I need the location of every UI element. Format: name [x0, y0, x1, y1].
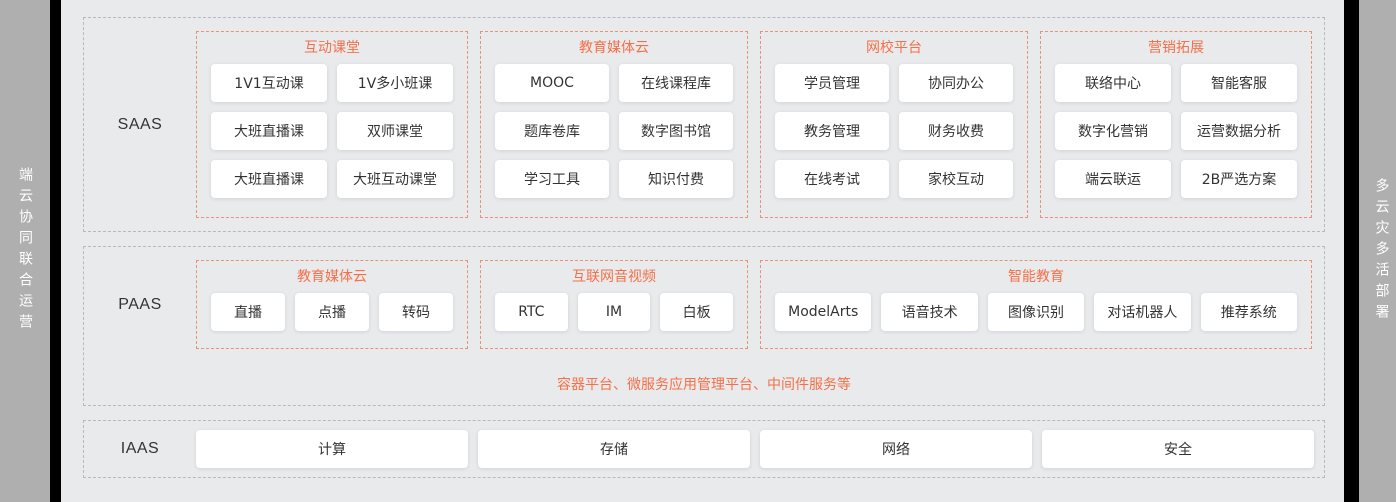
- service-card[interactable]: 白板: [660, 293, 733, 331]
- group-title: 互动课堂: [304, 41, 360, 55]
- layer-paas-label: PAAS: [84, 247, 196, 362]
- group-grid: MOOC 在线课程库 题库卷库 数字图书馆 学习工具 知识付费: [495, 64, 733, 198]
- service-card[interactable]: 推荐系统: [1201, 293, 1297, 331]
- group-internet-audio-video: 互联网音视频 RTC IM 白板: [480, 260, 748, 349]
- service-card[interactable]: 双师课堂: [337, 112, 453, 150]
- group-grid: 直播 点播 转码: [211, 293, 453, 331]
- layer-saas: SAAS 互动课堂 1V1互动课 1V多小班课 大班直播课 双师课堂 大班直播课…: [83, 17, 1325, 232]
- layer-iaas-body: 计算 存储 网络 安全: [196, 421, 1324, 477]
- service-card[interactable]: 联络中心: [1055, 64, 1171, 102]
- left-rail-divider: [50, 0, 61, 502]
- layer-paas-body: 教育媒体云 直播 点播 转码 互联网音视频 RTC IM 白板: [196, 247, 1324, 362]
- layer-saas-body: 互动课堂 1V1互动课 1V多小班课 大班直播课 双师课堂 大班直播课 大班互动…: [196, 18, 1324, 231]
- layer-iaas-label: IAAS: [84, 421, 196, 477]
- service-card[interactable]: 语音技术: [881, 293, 977, 331]
- diagram-canvas: SAAS 互动课堂 1V1互动课 1V多小班课 大班直播课 双师课堂 大班直播课…: [61, 0, 1344, 502]
- group-title: 智能教育: [1008, 270, 1064, 284]
- service-card[interactable]: MOOC: [495, 64, 609, 102]
- service-card[interactable]: IM: [578, 293, 651, 331]
- left-rail: 端云协同联合运营: [0, 0, 50, 502]
- service-card[interactable]: 计算: [196, 430, 468, 468]
- service-card[interactable]: 端云联运: [1055, 160, 1171, 198]
- service-card[interactable]: 图像识别: [988, 293, 1084, 331]
- service-card[interactable]: 直播: [211, 293, 285, 331]
- service-card[interactable]: 点播: [295, 293, 369, 331]
- service-card[interactable]: 1V多小班课: [337, 64, 453, 102]
- group-grid: 1V1互动课 1V多小班课 大班直播课 双师课堂 大班直播课 大班互动课堂: [211, 64, 453, 198]
- group-intelligent-education: 智能教育 ModelArts 语音技术 图像识别 对话机器人 推荐系统: [760, 260, 1312, 349]
- service-card[interactable]: 家校互动: [899, 160, 1013, 198]
- layer-paas-row: PAAS 教育媒体云 直播 点播 转码 互联网音视频 RTC: [84, 247, 1324, 362]
- layer-iaas: IAAS 计算 存储 网络 安全: [83, 420, 1325, 478]
- group-education-media-cloud: 教育媒体云 MOOC 在线课程库 题库卷库 数字图书馆 学习工具 知识付费: [480, 31, 748, 218]
- service-card[interactable]: 2B严选方案: [1181, 160, 1297, 198]
- group-grid: RTC IM 白板: [495, 293, 733, 331]
- service-card[interactable]: 存储: [478, 430, 750, 468]
- service-card[interactable]: 大班互动课堂: [337, 160, 453, 198]
- service-card[interactable]: 大班直播课: [211, 112, 327, 150]
- layer-paas: PAAS 教育媒体云 直播 点播 转码 互联网音视频 RTC: [83, 246, 1325, 406]
- group-grid: 学员管理 协同办公 教务管理 财务收费 在线考试 家校互动: [775, 64, 1013, 198]
- group-title: 互联网音视频: [572, 270, 656, 284]
- service-card[interactable]: 安全: [1042, 430, 1314, 468]
- service-card[interactable]: 1V1互动课: [211, 64, 327, 102]
- left-rail-label: 端云协同联合运营: [18, 167, 32, 335]
- group-paas-education-media-cloud: 教育媒体云 直播 点播 转码: [196, 260, 468, 349]
- service-card[interactable]: 协同办公: [899, 64, 1013, 102]
- service-card[interactable]: 数字图书馆: [619, 112, 733, 150]
- service-card[interactable]: 学习工具: [495, 160, 609, 198]
- layer-saas-label: SAAS: [84, 18, 196, 231]
- group-title: 营销拓展: [1148, 41, 1204, 55]
- right-rail-divider: [1344, 0, 1359, 502]
- right-rail: 多云灾多活部署: [1359, 0, 1396, 502]
- service-card[interactable]: 运营数据分析: [1181, 112, 1297, 150]
- service-card[interactable]: 教务管理: [775, 112, 889, 150]
- service-card[interactable]: 数字化营销: [1055, 112, 1171, 150]
- service-card[interactable]: 对话机器人: [1094, 293, 1190, 331]
- group-marketing-expansion: 营销拓展 联络中心 智能客服 数字化营销 运营数据分析 端云联运 2B严选方案: [1040, 31, 1312, 218]
- right-rail-label: 多云灾多活部署: [1375, 178, 1389, 325]
- group-online-school-platform: 网校平台 学员管理 协同办公 教务管理 财务收费 在线考试 家校互动: [760, 31, 1028, 218]
- service-card[interactable]: 网络: [760, 430, 1032, 468]
- group-grid: ModelArts 语音技术 图像识别 对话机器人 推荐系统: [775, 293, 1297, 331]
- service-card[interactable]: 转码: [379, 293, 453, 331]
- service-card[interactable]: 学员管理: [775, 64, 889, 102]
- group-title: 网校平台: [866, 41, 922, 55]
- service-card[interactable]: ModelArts: [775, 293, 871, 331]
- service-card[interactable]: 题库卷库: [495, 112, 609, 150]
- group-interactive-classroom: 互动课堂 1V1互动课 1V多小班课 大班直播课 双师课堂 大班直播课 大班互动…: [196, 31, 468, 218]
- service-card[interactable]: 智能客服: [1181, 64, 1297, 102]
- group-title: 教育媒体云: [297, 270, 367, 284]
- service-card[interactable]: RTC: [495, 293, 568, 331]
- service-card[interactable]: 在线考试: [775, 160, 889, 198]
- service-card[interactable]: 大班直播课: [211, 160, 327, 198]
- service-card[interactable]: 知识付费: [619, 160, 733, 198]
- service-card[interactable]: 财务收费: [899, 112, 1013, 150]
- paas-footnote: 容器平台、微服务应用管理平台、中间件服务等: [84, 362, 1324, 405]
- group-grid: 联络中心 智能客服 数字化营销 运营数据分析 端云联运 2B严选方案: [1055, 64, 1297, 198]
- service-card[interactable]: 在线课程库: [619, 64, 733, 102]
- architecture-diagram: 端云协同联合运营 SAAS 互动课堂 1V1互动课 1V多小班课 大班直播课 双…: [0, 0, 1396, 502]
- group-title: 教育媒体云: [579, 41, 649, 55]
